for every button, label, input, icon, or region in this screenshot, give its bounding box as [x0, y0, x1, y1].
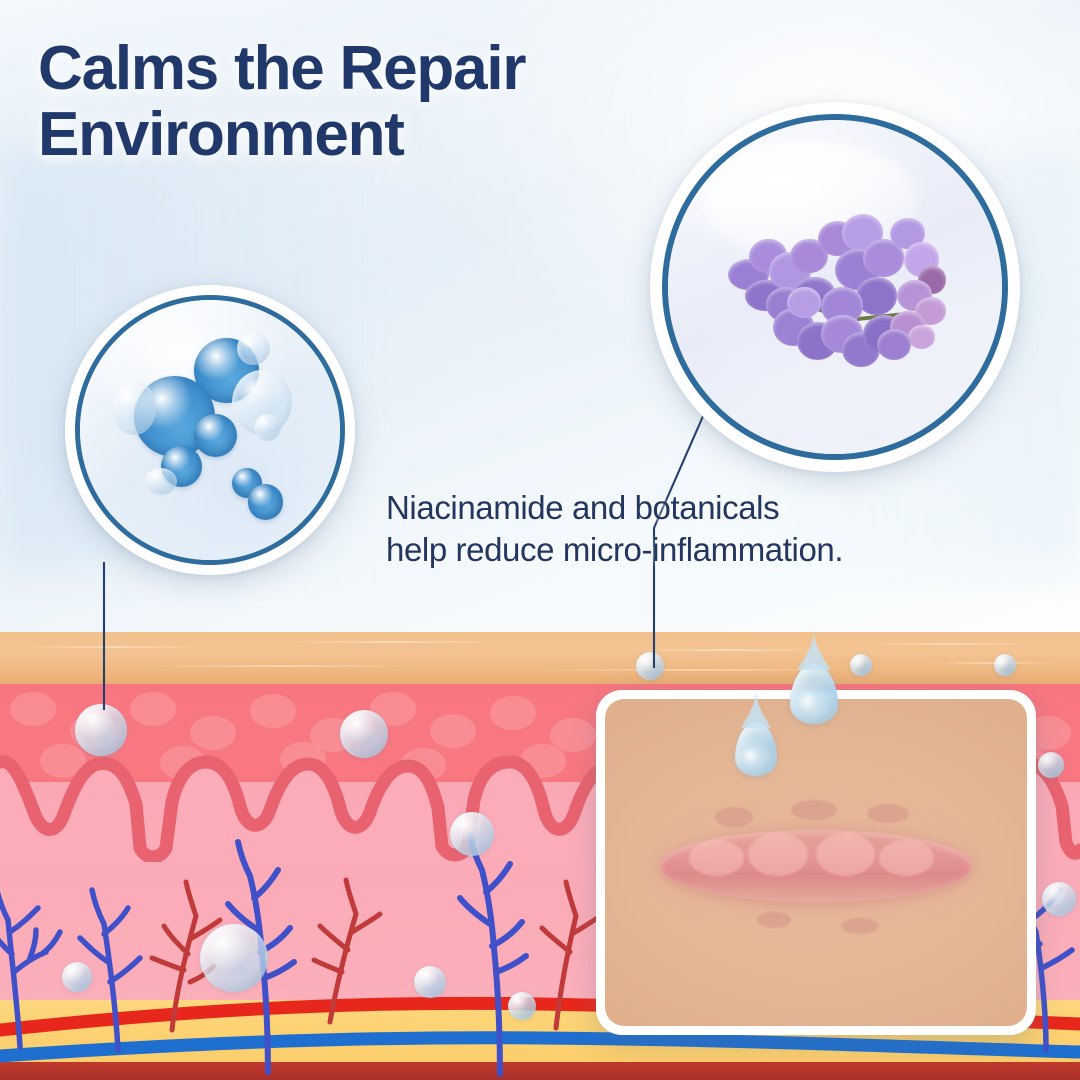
infographic-canvas: Calms the Repair Environment Niacinamide…	[0, 0, 1080, 1080]
vein-trunk	[0, 1038, 1080, 1056]
serum-droplet-tip	[790, 630, 838, 672]
headline: Calms the Repair Environment	[38, 36, 738, 169]
body-copy-line-1: Niacinamide and botanicals	[386, 487, 1006, 529]
serum-bubble	[414, 966, 446, 998]
serum-bubble	[994, 654, 1016, 676]
callout-circle-hydration-gel[interactable]	[65, 285, 355, 575]
serum-bubble	[1042, 882, 1076, 916]
scar-photo-card	[596, 690, 1036, 1035]
scar-photo	[605, 699, 1027, 1026]
body-copy: Niacinamide and botanicals help reduce m…	[386, 487, 1006, 570]
headline-line-2: Environment	[38, 102, 738, 168]
serum-droplet-tip	[735, 690, 777, 730]
serum-bubble	[75, 704, 127, 756]
callout-ring	[75, 295, 345, 565]
serum-bubble	[200, 924, 268, 992]
serum-bubble	[340, 710, 388, 758]
serum-bubble	[1038, 752, 1064, 778]
serum-bubble	[508, 992, 536, 1020]
serum-bubble	[850, 654, 872, 676]
serum-bubble	[62, 962, 92, 992]
serum-bubble	[636, 652, 664, 680]
headline-line-1: Calms the Repair	[38, 36, 738, 102]
body-copy-line-2: help reduce micro-inflammation.	[386, 529, 1006, 571]
serum-bubble	[450, 812, 494, 856]
hydration-gel-image	[75, 295, 345, 565]
